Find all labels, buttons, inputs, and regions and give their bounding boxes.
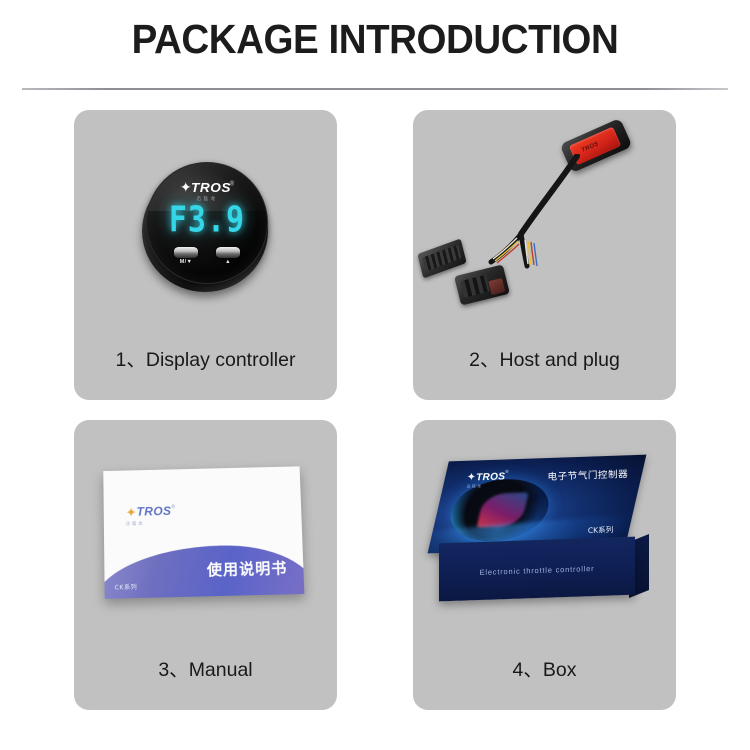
host-label-brand: TROS bbox=[581, 141, 600, 154]
star-icon: ✦ bbox=[467, 472, 476, 483]
brand-text: TROS bbox=[476, 471, 505, 483]
box-subtitle-english: Electronic throttle controller bbox=[439, 563, 635, 579]
title-divider bbox=[22, 88, 728, 90]
page-header: PACKAGE INTRODUCTION bbox=[0, 0, 750, 95]
brand-text: TROS bbox=[191, 181, 231, 194]
box-title-chinese: 电子节气门控制器 bbox=[547, 466, 628, 483]
item-number: 2、 bbox=[469, 349, 499, 371]
mode-button-group[interactable]: M/▼ bbox=[173, 247, 199, 265]
registered-mark: ® bbox=[171, 505, 175, 511]
item-number: 1、 bbox=[116, 349, 146, 371]
controller-knob: ✦TROS® 迅猛龙 F3.9 M/▼ ▲ bbox=[140, 160, 272, 292]
controller-buttons: M/▼ ▲ bbox=[147, 247, 267, 265]
package-card-caption: 2、Host and plug bbox=[413, 343, 676, 372]
package-card-manual[interactable]: ✦TROS® 迅猛龙 使用说明书 CK系列 3、Manual bbox=[74, 420, 337, 710]
item-label: Manual bbox=[189, 659, 253, 681]
up-button-group[interactable]: ▲ bbox=[215, 247, 241, 265]
product-box: ✦TROS® 迅猛龙 电子节气门控制器 CK系列 Electronic thro… bbox=[439, 458, 649, 608]
package-card-host-and-plug[interactable]: TROS 2、Ho bbox=[413, 110, 676, 400]
connector-plug-b bbox=[454, 264, 510, 305]
star-icon: ✦ bbox=[126, 506, 137, 519]
manual-title-chinese: 使用说明书 bbox=[207, 557, 288, 580]
brand-subtext: 迅猛龙 bbox=[126, 521, 176, 526]
package-card-caption: 1、Display controller bbox=[74, 343, 337, 372]
box-series-code: CK系列 bbox=[588, 524, 613, 536]
box-front-face: Electronic throttle controller bbox=[439, 537, 635, 602]
manual-brand-logo: ✦TROS® 迅猛龙 bbox=[126, 503, 176, 526]
item-label: Host and plug bbox=[500, 349, 620, 371]
brand-text: TROS bbox=[136, 504, 171, 519]
package-card-caption: 3、Manual bbox=[74, 653, 337, 682]
mode-down-button-label: M/▼ bbox=[173, 259, 199, 265]
package-items-grid: ✦TROS® 迅猛龙 F3.9 M/▼ ▲ bbox=[74, 110, 676, 710]
page-title: PACKAGE INTRODUCTION bbox=[23, 16, 728, 63]
item-label: Display controller bbox=[146, 349, 296, 371]
host-assembly: TROS bbox=[413, 110, 676, 338]
connector-plug-a bbox=[417, 238, 466, 278]
up-button[interactable] bbox=[216, 247, 240, 258]
package-card-caption: 4、Box bbox=[413, 653, 676, 682]
up-button-label: ▲ bbox=[215, 259, 241, 265]
display-controller-image: ✦TROS® 迅猛龙 F3.9 M/▼ ▲ bbox=[74, 110, 337, 338]
package-card-box[interactable]: ✦TROS® 迅猛龙 电子节气门控制器 CK系列 Electronic thro… bbox=[413, 420, 676, 710]
item-label: Box bbox=[543, 659, 577, 681]
host-and-plug-image: TROS bbox=[413, 110, 676, 338]
star-icon: ✦ bbox=[180, 180, 192, 194]
host-cable bbox=[477, 154, 585, 274]
item-number: 3、 bbox=[158, 659, 188, 681]
box-brand-logo: ✦TROS® 迅猛龙 bbox=[467, 467, 509, 489]
box-image: ✦TROS® 迅猛龙 电子节气门控制器 CK系列 Electronic thro… bbox=[413, 420, 676, 648]
controller-brand-logo: ✦TROS® 迅猛龙 bbox=[147, 180, 267, 202]
controller-led-display: F3.9 bbox=[147, 200, 267, 241]
item-number: 4、 bbox=[513, 659, 543, 681]
package-card-display-controller[interactable]: ✦TROS® 迅猛龙 F3.9 M/▼ ▲ bbox=[74, 110, 337, 400]
manual-booklet: ✦TROS® 迅猛龙 使用说明书 CK系列 bbox=[103, 466, 304, 598]
registered-mark: ® bbox=[505, 469, 508, 474]
mode-down-button[interactable] bbox=[174, 247, 198, 258]
manual-image: ✦TROS® 迅猛龙 使用说明书 CK系列 bbox=[74, 420, 337, 648]
manual-series-code: CK系列 bbox=[115, 582, 138, 592]
knob-face: ✦TROS® 迅猛龙 F3.9 M/▼ ▲ bbox=[146, 162, 268, 284]
